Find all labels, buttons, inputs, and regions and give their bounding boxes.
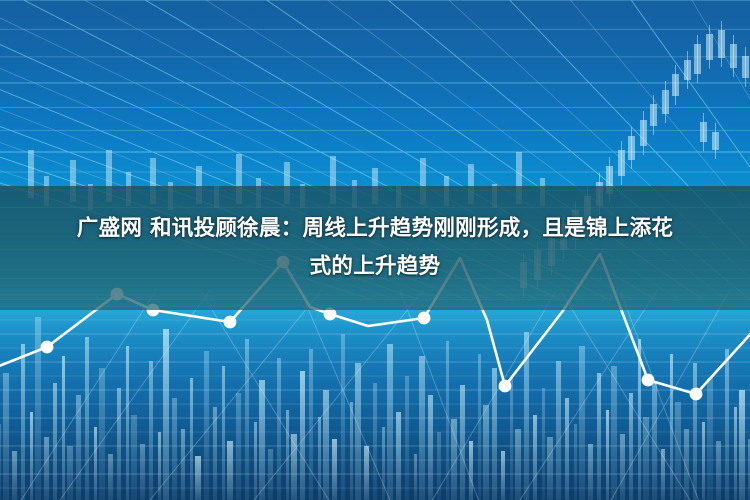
candle-body — [694, 44, 701, 74]
trend-marker — [41, 341, 54, 354]
headline-line-2: 式的上升趋势 — [310, 248, 441, 286]
candle-body — [650, 104, 657, 126]
candle-body — [706, 34, 713, 60]
candle-body — [700, 122, 707, 142]
trend-marker — [224, 316, 237, 329]
trend-marker — [642, 374, 655, 387]
headline-line-1: 广盛网 和讯投顾徐晨：周线上升趋势刚刚形成，且是锦上添花 — [77, 210, 673, 248]
headline-block: 广盛网 和讯投顾徐晨：周线上升趋势刚刚形成，且是锦上添花 式的上升趋势 — [0, 186, 750, 310]
candle-body — [718, 30, 725, 58]
candle-body — [742, 56, 749, 78]
candle-body — [628, 136, 635, 160]
candle-body — [730, 44, 737, 68]
candle-body — [618, 150, 625, 176]
candle-body — [640, 120, 647, 146]
candle-body — [672, 74, 679, 96]
candle-body — [712, 132, 719, 150]
trend-marker — [690, 388, 703, 401]
candle-body — [662, 90, 669, 114]
banner-image: 广盛网 和讯投顾徐晨：周线上升趋势刚刚形成，且是锦上添花 式的上升趋势 — [0, 0, 750, 500]
candle-body — [684, 60, 691, 80]
trend-marker — [418, 312, 431, 325]
trend-marker — [499, 380, 512, 393]
